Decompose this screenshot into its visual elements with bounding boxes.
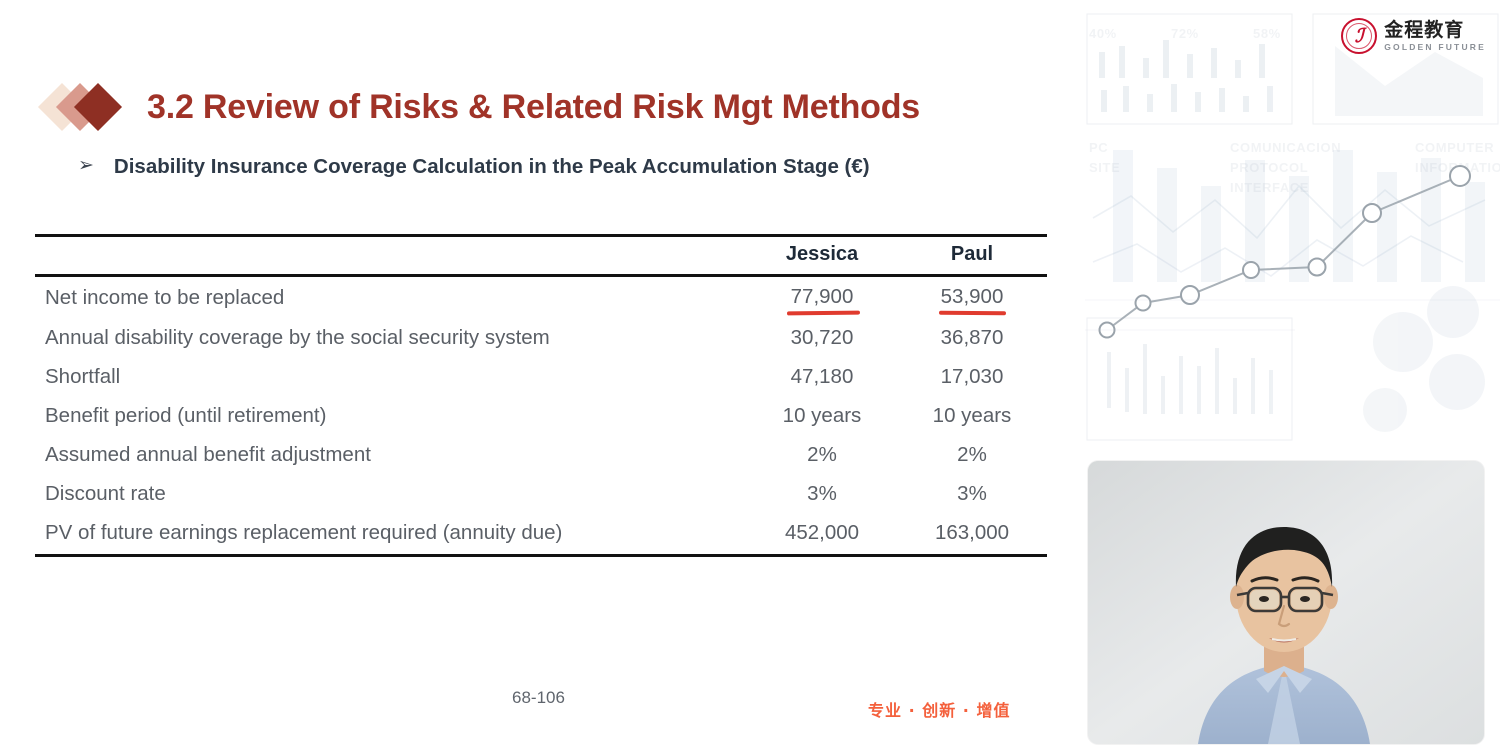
logo-chinese-name: 金程教育 — [1384, 21, 1486, 40]
logo-text: 金程教育 GOLDEN FUTURE — [1384, 21, 1486, 52]
row-label: PV of future earnings replacement requir… — [35, 513, 747, 552]
row-label: Benefit period (until retirement) — [35, 396, 747, 435]
seal-icon: ℐ — [1341, 18, 1377, 54]
table-body: Net income to be replaced77,90053,900Ann… — [35, 277, 1047, 552]
slide-title-row: 3.2 Review of Risks & Related Risk Mgt M… — [45, 82, 920, 132]
svg-text:SITE: SITE — [1089, 160, 1120, 175]
row-label: Annual disability coverage by the social… — [35, 318, 747, 357]
logo-monogram: ℐ — [1355, 27, 1364, 46]
table-body-wrap: Net income to be replaced77,90053,900Ann… — [35, 277, 1047, 552]
svg-text:INTERFACE: INTERFACE — [1230, 180, 1309, 195]
column-header-label — [35, 237, 747, 274]
cell-jessica: 452,000 — [747, 513, 897, 552]
cell-jessica: 10 years — [747, 396, 897, 435]
presenter-video-feed[interactable] — [1088, 461, 1484, 744]
brand-logo: ℐ 金程教育 GOLDEN FUTURE — [1341, 18, 1486, 54]
table-row: Shortfall47,18017,030 — [35, 357, 1047, 396]
brand-slogan: 专业 · 创新 · 增值 — [868, 697, 1010, 721]
svg-text:PROTOCOL: PROTOCOL — [1230, 160, 1308, 175]
cell-jessica: 47,180 — [747, 357, 897, 396]
slide-subtitle: Disability Insurance Coverage Calculatio… — [114, 150, 870, 184]
table-row: Assumed annual benefit adjustment2%2% — [35, 435, 1047, 474]
cell-jessica: 3% — [747, 474, 897, 513]
column-header-jessica: Jessica — [747, 237, 897, 274]
table-row: Annual disability coverage by the social… — [35, 318, 1047, 357]
row-label: Assumed annual benefit adjustment — [35, 435, 747, 474]
table-row: Benefit period (until retirement)10 year… — [35, 396, 1047, 435]
row-label: Discount rate — [35, 474, 747, 513]
cell-paul: 53,900 — [897, 277, 1047, 318]
row-label: Shortfall — [35, 357, 747, 396]
svg-text:40%: 40% — [1089, 26, 1117, 41]
svg-text:COMPUTER: COMPUTER — [1415, 140, 1494, 155]
presentation-screen: 3.2 Review of Risks & Related Risk Mgt M… — [0, 0, 1500, 750]
svg-text:58%: 58% — [1253, 26, 1281, 41]
table-header-row: Jessica Paul — [35, 237, 1047, 274]
cell-paul: 3% — [897, 474, 1047, 513]
arrow-bullet-icon: ➢ — [78, 150, 94, 180]
page-title: 3.2 Review of Risks & Related Risk Mgt M… — [147, 88, 920, 127]
decorative-infographic: COMUNICACION PROTOCOL INTERFACE COMPUTER… — [1085, 0, 1500, 445]
cell-jessica: 2% — [747, 435, 897, 474]
cell-jessica: 30,720 — [747, 318, 897, 357]
infographic-svg: COMUNICACION PROTOCOL INTERFACE COMPUTER… — [1085, 0, 1500, 445]
cell-paul: 163,000 — [897, 513, 1047, 552]
svg-text:COMUNICACION: COMUNICACION — [1230, 140, 1341, 155]
cell-paul: 17,030 — [897, 357, 1047, 396]
table-bottom-rule — [35, 554, 1047, 557]
slide-canvas: 3.2 Review of Risks & Related Risk Mgt M… — [0, 0, 1085, 750]
cell-jessica: 77,900 — [747, 277, 897, 318]
svg-text:72%: 72% — [1171, 26, 1199, 41]
right-panel: COMUNICACION PROTOCOL INTERFACE COMPUTER… — [1085, 0, 1500, 750]
table-row: Discount rate3%3% — [35, 474, 1047, 513]
page-number: 68-106 — [512, 688, 565, 708]
svg-text:PC: PC — [1089, 140, 1108, 155]
table-head: Jessica Paul — [35, 237, 1047, 274]
column-header-paul: Paul — [897, 237, 1047, 274]
table-row: Net income to be replaced77,90053,900 — [35, 277, 1047, 318]
slide-bullet: ➢ Disability Insurance Coverage Calculat… — [78, 150, 1008, 184]
cell-paul: 36,870 — [897, 318, 1047, 357]
annotated-value: 53,900 — [941, 285, 1004, 311]
cell-paul: 2% — [897, 435, 1047, 474]
disability-coverage-table: Jessica Paul Net income to be replaced77… — [35, 234, 1047, 557]
cell-paul: 10 years — [897, 396, 1047, 435]
row-label: Net income to be replaced — [35, 277, 747, 318]
logo-english-name: GOLDEN FUTURE — [1384, 43, 1486, 52]
annotated-value: 77,900 — [791, 285, 854, 311]
diamond-decoration-icon — [45, 82, 131, 132]
table: Jessica Paul — [35, 237, 1047, 274]
table-row: PV of future earnings replacement requir… — [35, 513, 1047, 552]
presenter-portrait — [1088, 461, 1484, 744]
